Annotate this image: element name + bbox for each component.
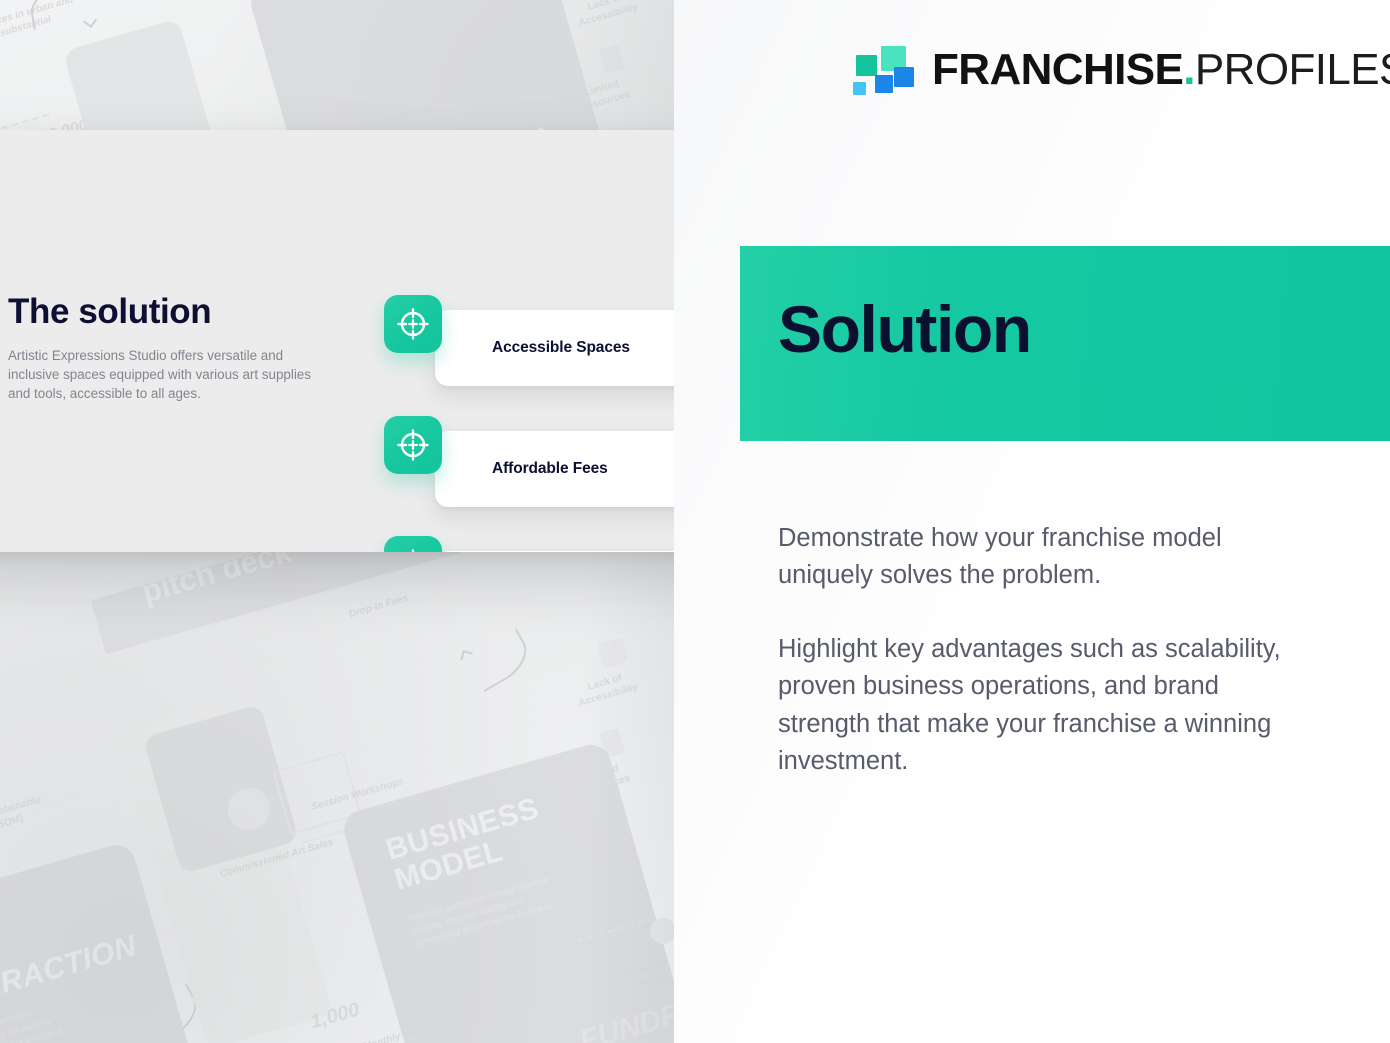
description-paragraph-1: Demonstrate how your franchise model uni…: [778, 520, 1318, 595]
logo-square-blue: [894, 67, 914, 87]
slide-canvas: pitch deck THE PROBLEM Many individuals …: [0, 0, 1390, 1043]
description-paragraph-2: Highlight key advantages such as scalabi…: [778, 631, 1318, 781]
logo-square-blue-small: [875, 75, 893, 93]
feature-row-professional-guidance[interactable]: Professional Guidance: [384, 536, 718, 552]
feature-row-accessible-spaces[interactable]: Accessible Spaces: [384, 295, 718, 401]
deck-sheet-body: Significant milestones demonstrating the…: [0, 992, 94, 1043]
right-content-panel: FRANCHISE.PROFILES Solution Demonstrate …: [674, 0, 1390, 1043]
brand-word-franchise: FRANCHISE: [932, 45, 1183, 94]
brand-wordmark: FRANCHISE.PROFILES: [932, 48, 1390, 92]
franchise-profiles-logo-icon: [850, 42, 906, 98]
section-title-band: Solution: [740, 246, 1390, 441]
ghost-label-accessibility: Lack of Accessibility: [574, 0, 640, 30]
brand-lockup: FRANCHISE.PROFILES: [850, 42, 1390, 98]
ghost-icon-resources: [599, 44, 625, 75]
feature-row-affordable-fees[interactable]: Affordable Fees: [384, 416, 718, 522]
ghost-label-som-top: Obtainable (SOM): [0, 793, 46, 832]
brand-word-dot: .: [1183, 45, 1195, 94]
ghost-label-dropin-fees-2: Drop-In Fees: [347, 592, 409, 621]
crosshair-target-icon: [384, 536, 442, 552]
feature-label: Accessible Spaces: [435, 339, 630, 357]
crosshair-target-icon: [384, 416, 442, 474]
ghost-icon-accessibility-2: [597, 637, 629, 669]
slide-description: Artistic Expressions Studio offers versa…: [8, 346, 323, 403]
feature-label: Affordable Fees: [435, 460, 608, 478]
ghost-label-accessibility-2: Lack of Accessibility: [574, 668, 640, 710]
logo-square-teal: [856, 55, 877, 76]
ghost-icon-dollar: [228, 788, 270, 830]
section-description: Demonstrate how your franchise model uni…: [778, 520, 1318, 781]
solution-slide-card: The solution Artistic Expressions Studio…: [0, 130, 739, 552]
brand-word-profiles: PROFILES: [1195, 45, 1390, 94]
section-title: Solution: [778, 296, 1031, 362]
logo-square-light-blue: [853, 82, 866, 95]
ghost-arrow-problem: [464, 628, 536, 693]
slide-heading: The solution: [8, 292, 211, 332]
crosshair-target-icon: [384, 295, 442, 353]
